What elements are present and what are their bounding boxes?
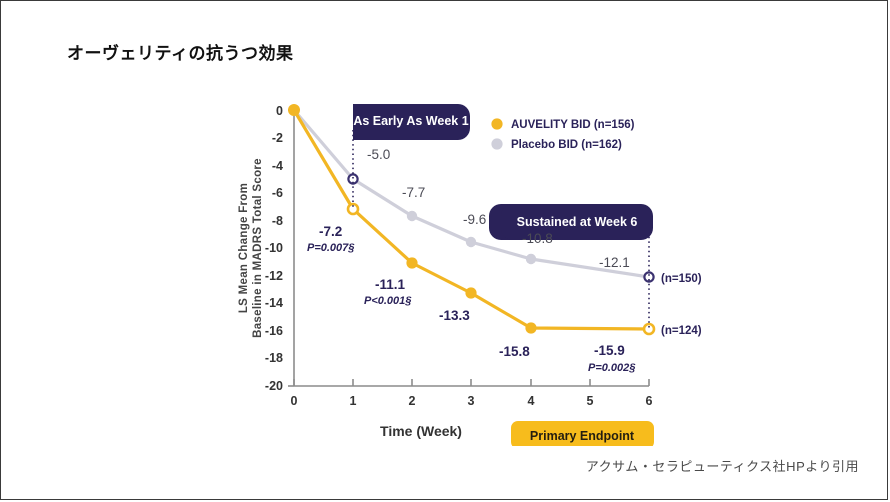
label-placebo-week6: -12.1 [599,255,630,270]
datapoint-placebo-week2 [407,211,417,221]
datapoint-placebo-week4 [526,254,536,264]
datapoint-baseline [288,104,300,116]
label-placebo-week2: -7.7 [402,185,425,200]
y-tick-10: -10 [265,241,283,255]
label-placebo-week6-n: (n=150) [661,273,702,285]
slide-canvas: オーヴェリティの抗うつ効果 0 -2 -4 -6 [0,0,888,500]
badge-week6-label: Sustained at Week 6 [517,215,638,229]
x-tick-1: 1 [350,394,357,408]
y-tick-6: -6 [272,186,283,200]
label-placebo-week1: -5.0 [367,147,390,162]
label-auvelity-week2-p: P<0.001§ [364,295,412,307]
y-axis [288,110,294,386]
badge-as-early-as-week-1[interactable]: As Early As Week 1 [353,104,470,140]
datapoint-auvelity-week2 [406,257,417,268]
legend-label-placebo: Placebo BID (n=162) [511,139,622,151]
x-tick-6: 6 [646,394,653,408]
page-title: オーヴェリティの抗うつ効果 [67,39,293,64]
datapoint-auvelity-week4 [525,322,536,333]
y-axis-label-line1: LS Mean Change From [238,183,250,313]
legend-label-auvelity: AUVELITY BID (n=156) [511,119,635,131]
y-tick-18: -18 [265,351,283,365]
legend-marker-auvelity [491,118,502,129]
primary-endpoint-label: Primary Endpoint [530,429,635,443]
madrs-line-chart: 0 -2 -4 -6 -8 -10 -12 -14 -16 -18 -20 0 … [231,96,871,446]
label-auvelity-week6-n: (n=124) [661,325,702,337]
badge-primary-endpoint[interactable]: Primary Endpoint [511,421,654,446]
y-tick-4: -4 [272,159,283,173]
x-tick-3: 3 [468,394,475,408]
y-tick-14: -14 [265,296,283,310]
x-tick-2: 2 [409,394,416,408]
source-citation: アクサム・セラピューティクス社HPより引用 [586,456,859,475]
x-axis [294,379,649,386]
x-axis-title: Time (Week) [380,423,462,439]
label-auvelity-week1-p: P=0.007§ [307,242,355,254]
label-auvelity-week1: -7.2 [319,224,342,239]
label-placebo-week4: -10.8 [522,231,553,246]
label-auvelity-week4: -15.8 [499,344,530,359]
label-placebo-week3: -9.6 [463,212,486,227]
x-tick-5: 5 [587,394,594,408]
legend-marker-placebo [491,138,502,149]
x-tick-4: 4 [528,394,535,408]
label-auvelity-week2: -11.1 [375,277,406,292]
chart-svg: 0 -2 -4 -6 -8 -10 -12 -14 -16 -18 -20 0 … [231,96,871,446]
y-tick-20: -20 [265,379,283,393]
y-tick-16: -16 [265,324,283,338]
y-axis-label-line2: Baseline in MADRS Total Score [252,158,264,338]
y-tick-2: -2 [272,131,283,145]
x-tick-0: 0 [291,394,298,408]
y-tick-12: -12 [265,269,283,283]
datapoint-auvelity-week3 [465,287,476,298]
y-tick-0: 0 [276,104,283,118]
label-auvelity-week6: -15.9 [594,343,625,358]
y-tick-8: -8 [272,214,283,228]
badge-sustained-at-week-6[interactable]: Sustained at Week 6 [489,204,653,240]
datapoint-auvelity-week6 [644,324,654,334]
label-auvelity-week6-p: P=0.002§ [588,362,636,374]
label-auvelity-week3: -13.3 [439,308,470,323]
chart-legend: AUVELITY BID (n=156) Placebo BID (n=162) [491,118,634,151]
badge-week1-label: As Early As Week 1 [353,114,468,128]
datapoint-placebo-week3 [466,237,476,247]
